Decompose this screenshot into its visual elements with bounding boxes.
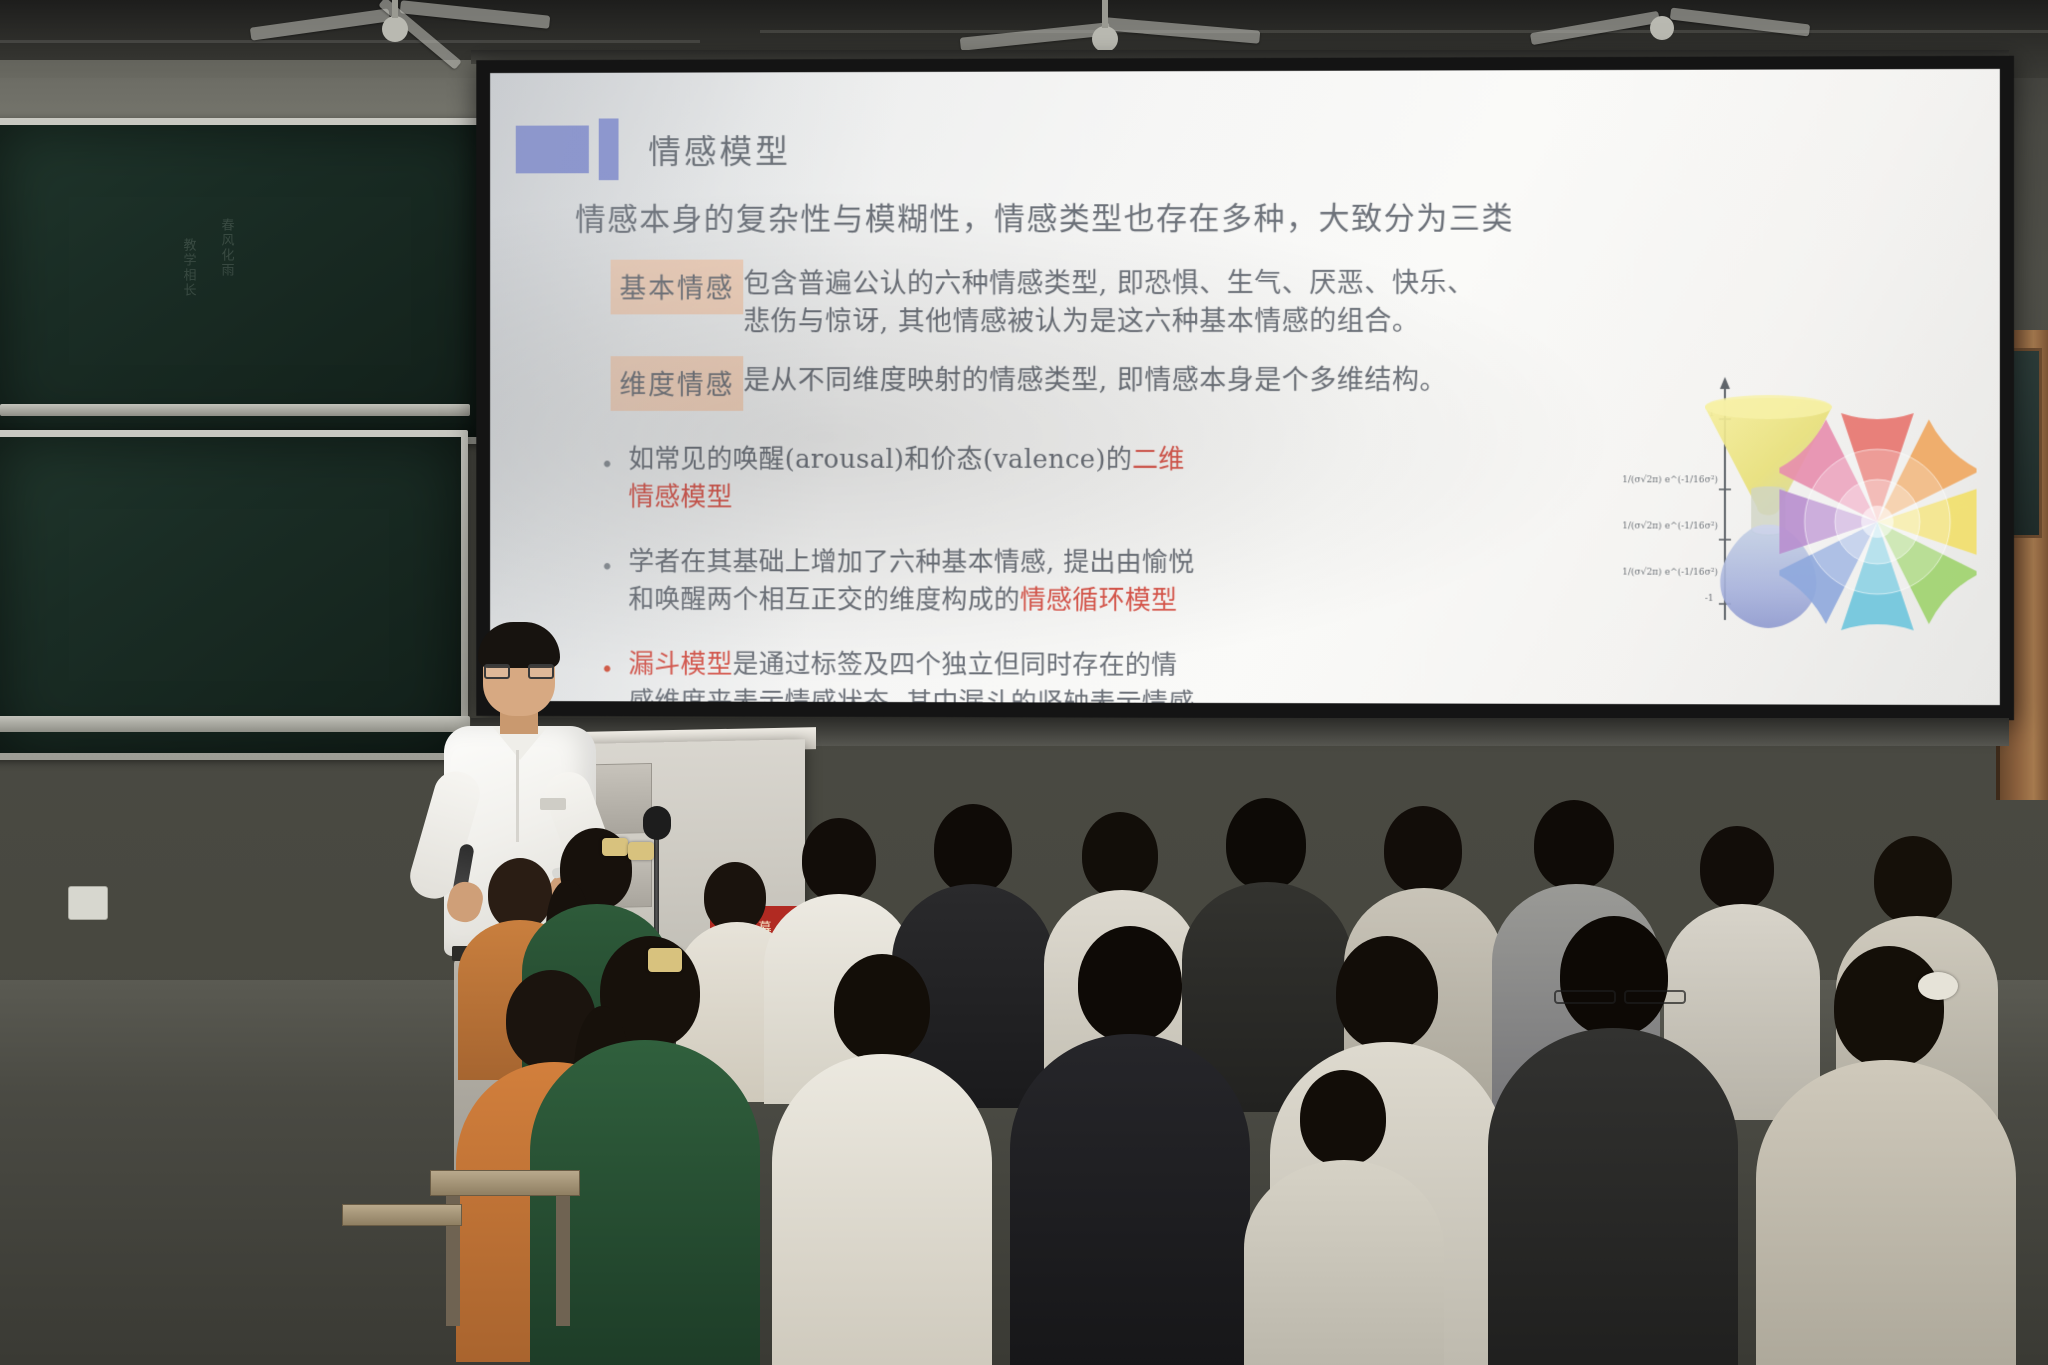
term-tag-dimensional-emotion: 维度情感 <box>611 356 744 411</box>
bullet-text-2: 学者在其基础上增加了六种基本情感, 提出由愉悦 和唤醒两个相互正交的维度构成的情… <box>628 543 1194 621</box>
bullet-item-3: • 漏斗模型是通过标签及四个独立但同时存在的情 感维度来表示情感状态, 其中漏斗… <box>601 645 1317 705</box>
ceiling-panel-line <box>760 30 2048 33</box>
glasses-icon <box>484 664 554 679</box>
title-accent-block-large <box>516 126 589 174</box>
bullet-marker: • <box>601 543 629 620</box>
definition-text-dimensional: 是从不同维度映射的情感类型, 即情感本身是个多维结构。 <box>743 356 1447 400</box>
bullet-item-1: • 如常见的唤醒(arousal)和价态(valence)的二维 情感模型 <box>601 441 1317 518</box>
bullet-marker: • <box>601 441 629 518</box>
definition-row-dimensional: 维度情感 是从不同维度映射的情感类型, 即情感本身是个多维结构。 <box>611 356 1447 411</box>
bullet-text-3: 漏斗模型是通过标签及四个独立但同时存在的情 感维度来表示情感状态, 其中漏斗的竖… <box>628 645 1194 705</box>
chalk-rail <box>0 404 470 416</box>
projected-slide: 情感模型 情感本身的复杂性与模糊性，情感类型也存在多种，大致分为三类 基本情感 … <box>490 69 2000 705</box>
slide-content: 情感模型 情感本身的复杂性与模糊性，情感类型也存在多种，大致分为三类 基本情感 … <box>490 69 2000 705</box>
bullet-highlight-2: 情感循环模型 <box>1020 586 1177 616</box>
definition-row-basic: 基本情感 包含普遍公认的六种情感类型, 即恐惧、生气、厌恶、快乐、 悲伤与惊讶,… <box>611 259 1475 342</box>
bullet-body-1: 如常见的唤醒(arousal)和价态(valence)的 <box>628 445 1132 475</box>
desk <box>430 1170 580 1196</box>
funnel-emotion-wheel-diagram: 1 -1 1/(σ√2π) e^(-1/16σ²) 1/(σ√2π) e^(-1… <box>1620 371 1973 683</box>
classroom-scene: 春风化雨 教学相长 情感模型 情感本身的复杂性与模糊性，情感类型也存在多种，大致… <box>0 0 2048 1365</box>
term-tag-basic-emotion: 基本情感 <box>611 260 744 315</box>
page-title: 情感模型 <box>648 125 791 173</box>
bullet-text-1: 如常见的唤醒(arousal)和价态(valence)的二维 情感模型 <box>628 441 1184 518</box>
desk <box>342 1204 462 1226</box>
bullet-list: • 如常见的唤醒(arousal)和价态(valence)的二维 情感模型 • … <box>601 441 1317 705</box>
desk-leg <box>556 1196 570 1326</box>
audience <box>0 740 2048 1365</box>
blackboard-upper-left: 春风化雨 教学相长 <box>0 118 490 444</box>
slide-title-row: 情感模型 <box>516 118 791 180</box>
title-accent-block-small <box>599 118 619 180</box>
bullet-lead-3: 漏斗模型 <box>628 649 732 679</box>
slide-intro-text: 情感本身的复杂性与模糊性，情感类型也存在多种，大致分为三类 <box>575 193 1514 239</box>
definition-text-basic: 包含普遍公认的六种情感类型, 即恐惧、生气、厌恶、快乐、 悲伤与惊讶, 其他情感… <box>743 259 1474 342</box>
blackboard-lower-left <box>0 430 468 760</box>
emotion-wheel-icon <box>1779 371 1976 673</box>
projection-screen: 情感模型 情感本身的复杂性与模糊性，情感类型也存在多种，大致分为三类 基本情感 … <box>476 56 2014 720</box>
bullet-item-2: • 学者在其基础上增加了六种基本情感, 提出由愉悦 和唤醒两个相互正交的维度构成… <box>601 543 1317 621</box>
